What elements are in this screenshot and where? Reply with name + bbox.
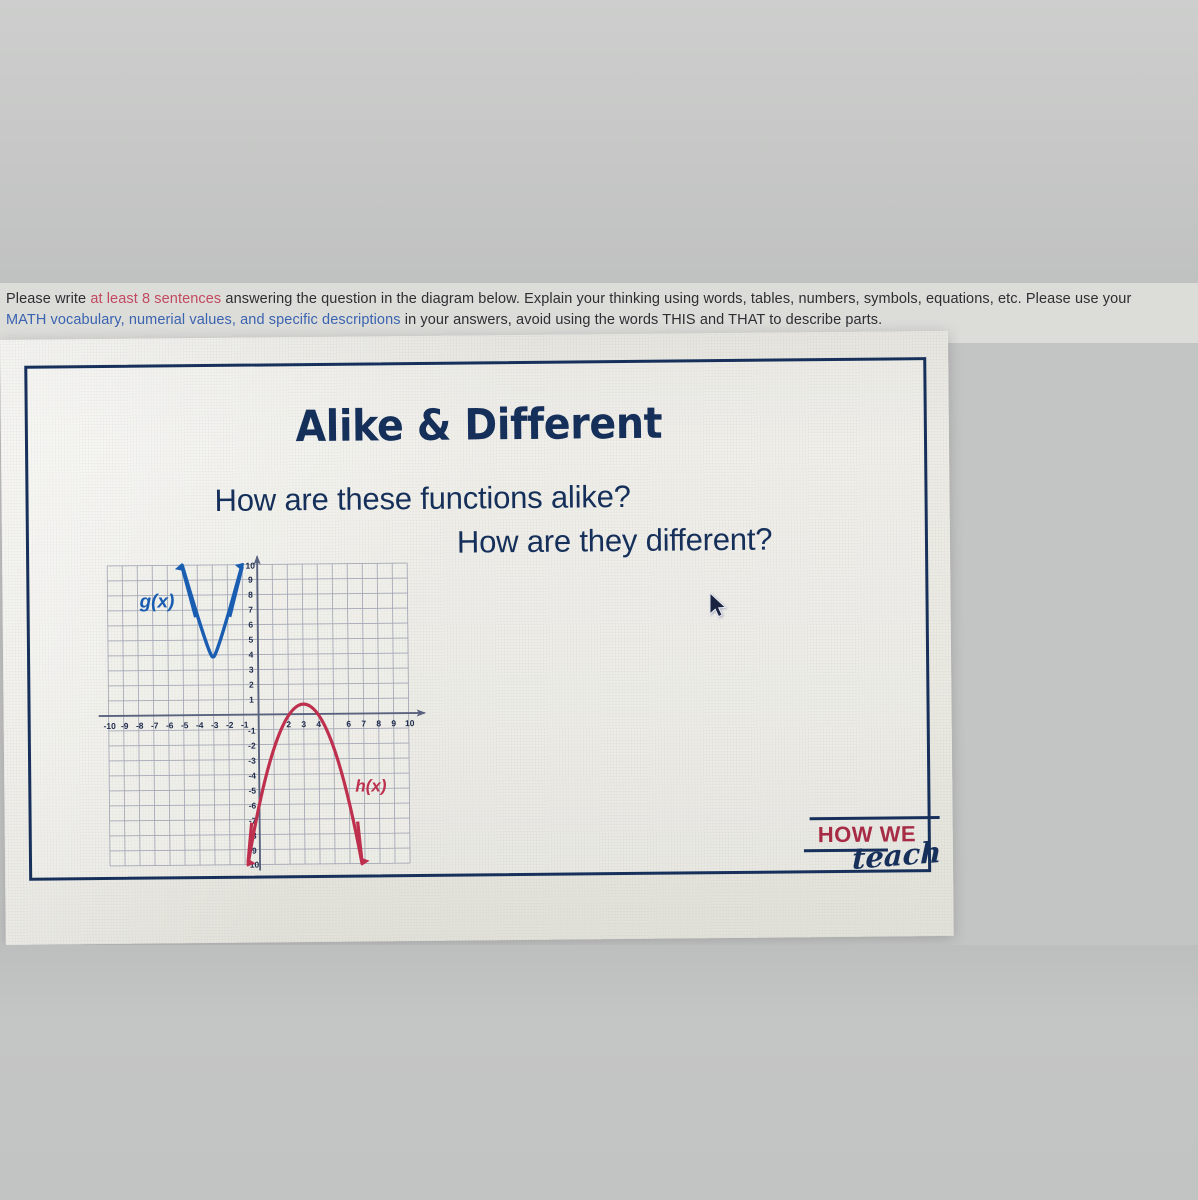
svg-text:-1: -1 [248, 726, 256, 736]
question-different: How are they different? [457, 522, 773, 561]
svg-text:7: 7 [361, 719, 366, 729]
svg-text:3: 3 [301, 719, 306, 729]
coordinate-graph: -10 -9 -8 -7 -6 -5 -4 -3 -2 -1 2 3 4 6 [97, 553, 430, 878]
svg-text:-3: -3 [211, 720, 219, 730]
svg-text:-4: -4 [196, 720, 204, 730]
svg-text:9: 9 [391, 718, 396, 728]
svg-text:-2: -2 [226, 720, 234, 730]
series-label-g: g(x) [138, 591, 174, 612]
screenshot-root: Please write at least 8 sentences answer… [0, 0, 1198, 1200]
graph-svg: -10 -9 -8 -7 -6 -5 -4 -3 -2 -1 2 3 4 6 [97, 553, 430, 878]
svg-text:-6: -6 [166, 720, 174, 730]
svg-text:7: 7 [248, 605, 253, 615]
svg-text:9: 9 [248, 575, 253, 585]
svg-text:6: 6 [346, 719, 351, 729]
svg-text:-5: -5 [181, 720, 189, 730]
svg-text:6: 6 [248, 620, 253, 630]
instructions-highlight-sentences: at least 8 sentences [90, 291, 221, 307]
worksheet-sheet: Alike & Different How are these function… [0, 331, 954, 945]
instructions-segment-5: in your answers, avoid using the words T… [401, 312, 883, 328]
svg-text:-5: -5 [249, 786, 257, 796]
background-band-top [0, 0, 1198, 283]
svg-text:4: 4 [249, 650, 254, 660]
instructions-segment-3: answering the question in the diagram be… [221, 291, 1131, 307]
brand-logo: HOW WE teach [804, 812, 945, 875]
instructions-segment-1: Please write [6, 291, 90, 307]
svg-text:-8: -8 [136, 721, 144, 731]
svg-text:10: 10 [405, 718, 415, 728]
logo-line-teach: teach [852, 835, 942, 876]
svg-text:-6: -6 [249, 801, 257, 811]
svg-text:10: 10 [245, 561, 255, 571]
svg-text:-2: -2 [248, 741, 256, 751]
svg-text:-9: -9 [121, 721, 129, 731]
instructions-highlight-vocabulary: MATH vocabulary, numerial values, and sp… [6, 312, 401, 328]
logo-rule-top [810, 816, 940, 820]
background-band-bottom [0, 945, 1198, 1200]
series-label-h: h(x) [355, 776, 387, 795]
slide-frame: Alike & Different How are these function… [24, 357, 931, 881]
svg-text:3: 3 [249, 665, 254, 675]
svg-text:5: 5 [248, 635, 253, 645]
svg-text:-7: -7 [151, 720, 159, 730]
question-alike: How are these functions alike? [214, 479, 631, 519]
svg-text:-4: -4 [248, 771, 256, 781]
svg-text:8: 8 [248, 590, 253, 600]
svg-text:-10: -10 [104, 721, 117, 731]
page-title: Alike & Different [64, 396, 894, 454]
svg-text:2: 2 [249, 680, 254, 690]
svg-text:2: 2 [286, 719, 291, 729]
svg-text:8: 8 [376, 718, 381, 728]
svg-text:1: 1 [249, 695, 254, 705]
svg-text:-3: -3 [248, 756, 256, 766]
assignment-instructions: Please write at least 8 sentences answer… [6, 289, 1196, 331]
